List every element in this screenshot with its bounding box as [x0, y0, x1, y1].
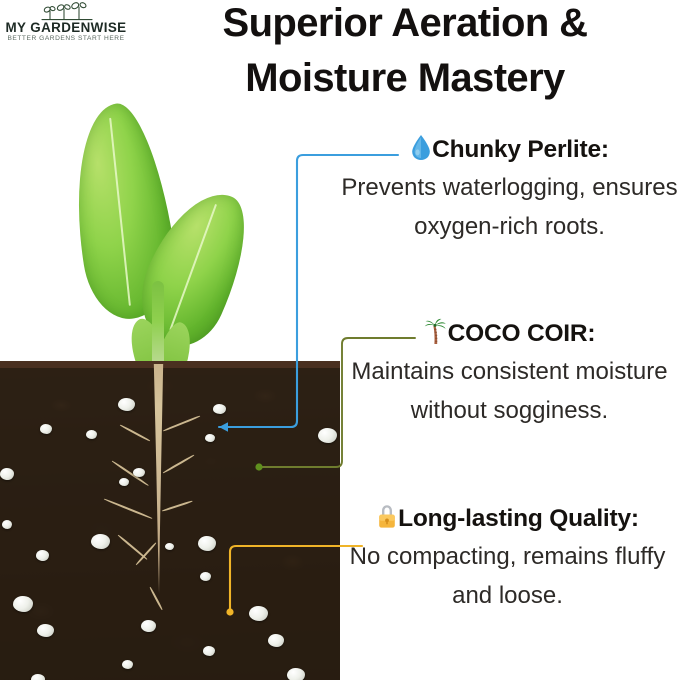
- palm-tree-icon: [424, 318, 448, 352]
- logo-brand-name: MY GARDENWISE: [4, 20, 128, 35]
- perlite-chunk: [318, 428, 337, 443]
- feature-body-text: Prevents waterlogging, ensures oxygen-ri…: [340, 168, 679, 246]
- soil-block: [0, 368, 340, 680]
- lock-icon: [376, 503, 398, 537]
- perlite-chunk: [249, 606, 268, 621]
- perlite-chunk: [200, 572, 211, 581]
- perlite-chunk: [141, 620, 156, 632]
- feature-title-text: Long-lasting Quality:: [398, 505, 639, 532]
- perlite-chunk: [133, 468, 145, 477]
- feature-title-row: COCO COIR:: [340, 318, 679, 352]
- perlite-chunk: [13, 596, 33, 612]
- perlite-chunk: [37, 624, 54, 637]
- perlite-chunk: [118, 398, 135, 411]
- feature-block-chunky-perlite: Chunky Perlite: Prevents waterlogging, e…: [340, 134, 679, 246]
- perlite-chunk: [40, 424, 52, 434]
- perlite-chunk: [165, 543, 174, 550]
- perlite-chunk: [205, 434, 215, 442]
- feature-title-text: COCO COIR:: [448, 320, 596, 347]
- feature-block-long-lasting-quality: Long-lasting Quality: No compacting, rem…: [336, 503, 679, 615]
- page-title-line-1: Superior Aeration &: [131, 0, 679, 51]
- water-drop-icon: [410, 134, 432, 168]
- perlite-chunk: [268, 634, 284, 647]
- leaf-midrib: [169, 204, 217, 331]
- perlite-chunk: [213, 404, 226, 414]
- perlite-chunk: [122, 660, 133, 669]
- perlite-chunk: [2, 520, 12, 529]
- infographic-page: MY GARDENWISE BETTER GARDENS START HERE …: [0, 0, 679, 680]
- leaf-midrib: [109, 118, 131, 306]
- perlite-chunk: [31, 674, 45, 680]
- perlite-chunk: [287, 668, 305, 680]
- feature-title-row: Chunky Perlite:: [340, 134, 679, 168]
- perlite-chunk: [0, 468, 14, 480]
- perlite-chunk: [198, 536, 216, 551]
- perlite-chunk: [203, 646, 215, 656]
- perlite-chunk: [36, 550, 49, 561]
- logo-tagline: BETTER GARDENS START HERE: [4, 35, 128, 42]
- perlite-chunk: [91, 534, 110, 549]
- seedling-photo: [0, 86, 340, 680]
- three-sprouts-icon: [38, 2, 96, 22]
- feature-title-text: Chunky Perlite:: [432, 136, 609, 163]
- feature-body-text: Maintains consistent moisture without so…: [340, 352, 679, 430]
- perlite-chunk: [119, 478, 129, 486]
- perlite-chunk: [86, 430, 97, 439]
- brand-logo: MY GARDENWISE BETTER GARDENS START HERE: [4, 2, 128, 46]
- feature-body-text: No compacting, remains fluffy and loose.: [336, 537, 679, 615]
- feature-title-row: Long-lasting Quality:: [336, 503, 679, 537]
- feature-block-coco-coir: COCO COIR: Maintains consistent moisture…: [340, 318, 679, 430]
